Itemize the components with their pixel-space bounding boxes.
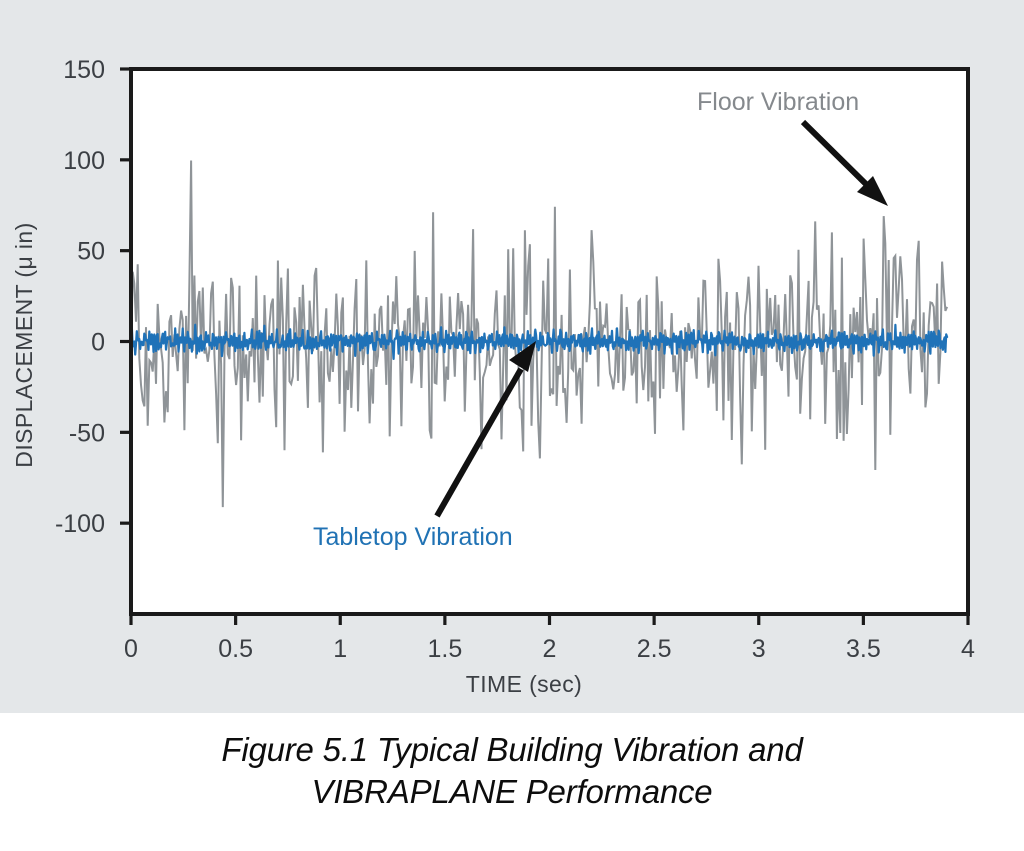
y-tick-label: 50 — [77, 238, 105, 266]
y-tick-label: 100 — [63, 147, 105, 175]
annotation-tabletop-vibration-label: Tabletop Vibration — [313, 523, 513, 551]
figure-caption: Figure 5.1 Typical Building Vibration an… — [0, 713, 1024, 851]
y-axis-tick-labels: 150100500-50-100 — [55, 56, 105, 538]
y-tick-label: -50 — [69, 419, 105, 447]
x-axis-title: TIME (sec) — [466, 671, 582, 697]
y-tick-label: 0 — [91, 329, 105, 357]
x-tick-label: 4 — [961, 635, 975, 663]
x-tick-label: 1 — [333, 635, 347, 663]
annotation-floor-vibration-label: Floor Vibration — [697, 88, 859, 116]
x-tick-label: 0 — [124, 635, 138, 663]
x-tick-label: 0.5 — [218, 635, 253, 663]
vibration-chart: 00.511.522.533.54 150100500-50-100 TIME … — [0, 0, 1024, 713]
x-tick-label: 2 — [543, 635, 557, 663]
x-axis-tick-labels: 00.511.522.533.54 — [124, 635, 975, 663]
caption-line-2: VIBRAPLANE Performance — [312, 771, 713, 813]
x-tick-label: 3 — [752, 635, 766, 663]
y-tick-label: 150 — [63, 56, 105, 84]
y-axis-title: DISPLACEMENT (μ in) — [11, 222, 37, 467]
y-tick-label: -100 — [55, 510, 105, 538]
x-tick-label: 1.5 — [427, 635, 462, 663]
x-tick-label: 3.5 — [846, 635, 881, 663]
figure-panel: 00.511.522.533.54 150100500-50-100 TIME … — [0, 0, 1024, 713]
figure-page: 00.511.522.533.54 150100500-50-100 TIME … — [0, 0, 1024, 851]
caption-line-1: Figure 5.1 Typical Building Vibration an… — [221, 729, 802, 771]
x-tick-label: 2.5 — [637, 635, 672, 663]
